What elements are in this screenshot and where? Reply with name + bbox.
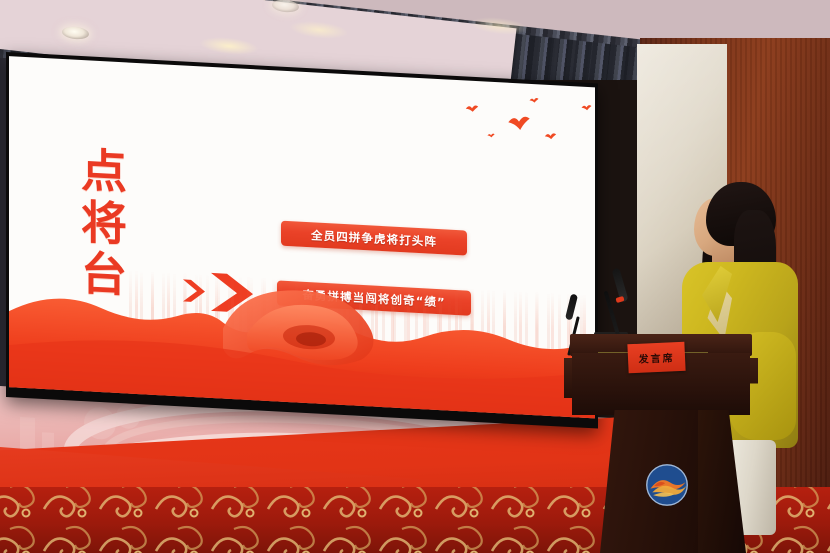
banner-slogan-1[interactable]: 全员四拼争虎将打头阵 xyxy=(281,221,467,256)
company-wave-logo xyxy=(644,462,690,508)
speaker-podium: 发言席 xyxy=(566,324,761,553)
conference-hall-scene: 点 将 台 全员四拼争虎将打头阵 奋勇拼搏当闯将创奇“绩” 多点发力做名将谋发展 xyxy=(0,0,830,553)
podium-placard: 发言席 xyxy=(627,342,685,374)
led-screen-frame: 点 将 台 全员四拼争虎将打头阵 奋勇拼搏当闯将创奇“绩” 多点发力做名将谋发展 xyxy=(6,52,598,429)
red-wave-decoration xyxy=(9,56,239,126)
microphone-indicator xyxy=(615,296,624,303)
flying-bird-icon xyxy=(544,131,557,142)
red-silk-ribbon xyxy=(9,249,595,418)
podium-placard-text: 发言席 xyxy=(638,349,675,366)
title-char-2: 将 xyxy=(81,197,127,251)
flying-bird-icon xyxy=(581,103,592,113)
banner-slogan-1-text: 全员四拼争虎将打头阵 xyxy=(311,227,437,250)
podium-column-side xyxy=(698,410,746,553)
flying-bird-icon xyxy=(529,96,539,105)
flying-bird-icon xyxy=(507,113,531,133)
flying-bird-icon xyxy=(487,132,495,139)
led-screen-display: 点 将 台 全员四拼争虎将打头阵 奋勇拼搏当闯将创奇“绩” 多点发力做名将谋发展 xyxy=(9,56,595,418)
title-char-1: 点 xyxy=(81,145,127,199)
flying-bird-icon xyxy=(465,102,479,114)
